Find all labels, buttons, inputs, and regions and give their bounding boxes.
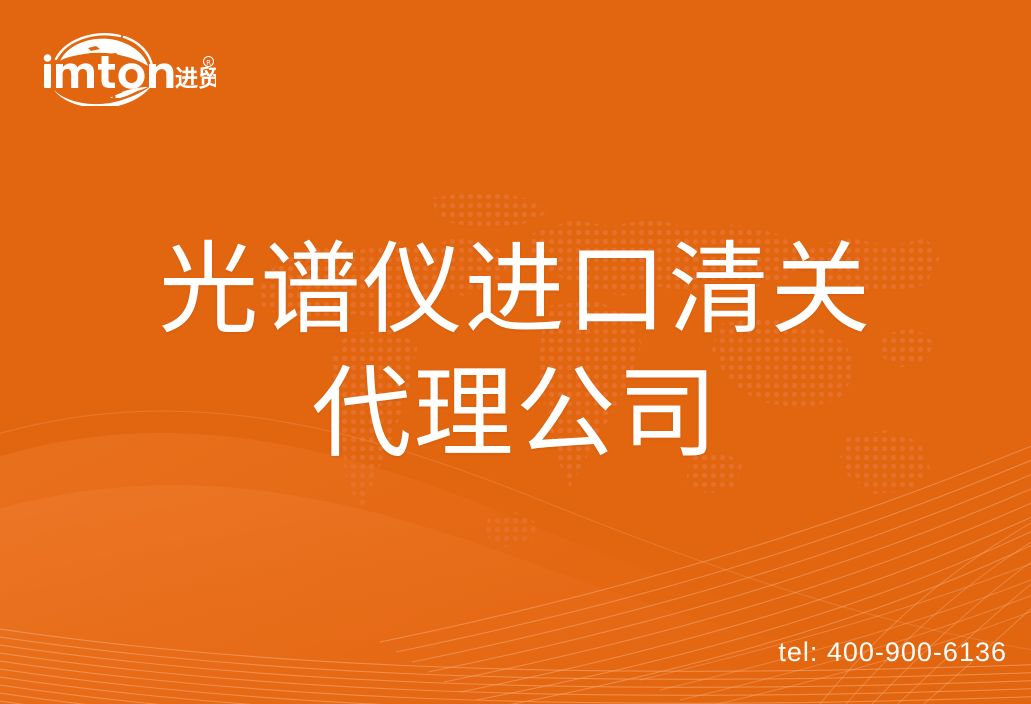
- logo-chinese-name: 进贸通: [175, 66, 216, 92]
- swoosh-arrow-icon: [54, 85, 152, 106]
- imton-wordmark: [44, 54, 174, 89]
- registered-trademark-icon: R: [204, 57, 214, 68]
- imton-logo[interactable]: 进贸通 R: [36, 28, 216, 106]
- headline-line-1: 光谱仪进口清关: [0, 228, 1031, 352]
- page-title: 光谱仪进口清关 代理公司: [0, 228, 1031, 476]
- headline-line-2: 代理公司: [0, 352, 1031, 476]
- svg-text:R: R: [206, 59, 211, 67]
- promo-banner: 进贸通 R 光谱仪进口清关 代理公司 tel: 400-900-6136: [0, 0, 1031, 704]
- contact-phone[interactable]: tel: 400-900-6136: [778, 637, 1007, 668]
- svg-text:进贸通: 进贸通: [175, 66, 216, 92]
